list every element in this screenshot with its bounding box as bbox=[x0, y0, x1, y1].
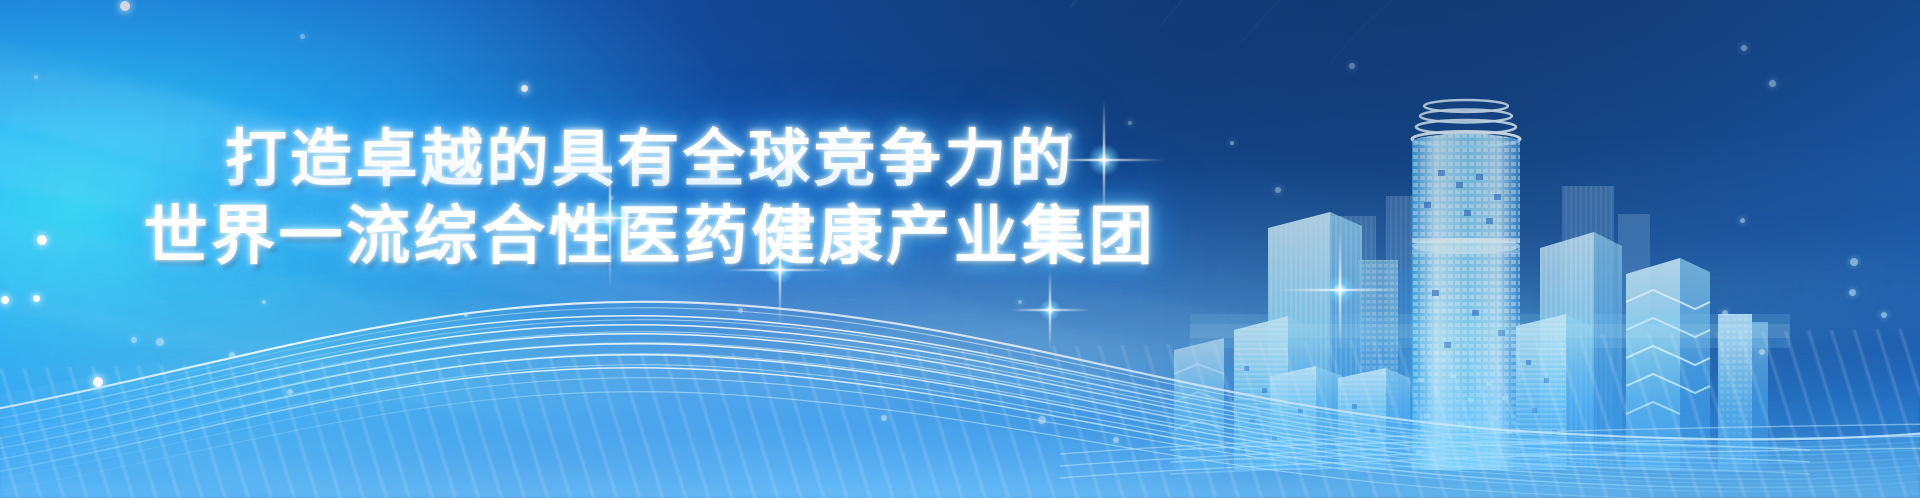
headline-block: 打造卓越的具有全球竞争力的 世界一流综合性医药健康产业集团 bbox=[0, 126, 1300, 273]
particle-dot bbox=[1128, 121, 1132, 125]
particle-dot bbox=[120, 1, 130, 11]
headline-line-2: 世界一流综合性医药健康产业集团 bbox=[0, 201, 1300, 273]
hero-banner: 打造卓越的具有全球竞争力的 世界一流综合性医药健康产业集团 bbox=[0, 0, 1920, 498]
particle-dot bbox=[300, 34, 305, 39]
headline-line-1: 打造卓越的具有全球竞争力的 bbox=[0, 126, 1300, 195]
particle-dot bbox=[521, 85, 528, 92]
particle-dot bbox=[34, 75, 38, 79]
particle-dot bbox=[1741, 45, 1747, 51]
particle-dot bbox=[1349, 63, 1355, 69]
